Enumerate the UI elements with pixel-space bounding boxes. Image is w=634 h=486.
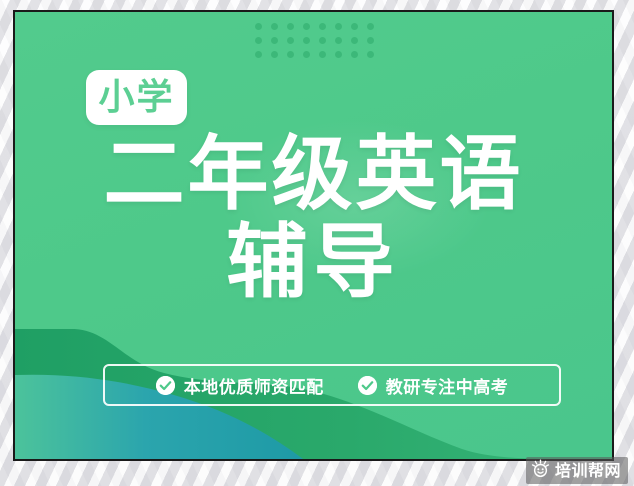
grade-level-badge: 小学 xyxy=(86,70,187,125)
grid-dot xyxy=(271,37,278,44)
grid-dot xyxy=(351,37,358,44)
check-circle-icon xyxy=(358,376,377,395)
sun-face-icon xyxy=(531,459,550,483)
site-watermark-label: 培训帮网 xyxy=(555,463,621,479)
check-circle-icon xyxy=(156,376,175,395)
grid-dot xyxy=(367,37,374,44)
grid-dot xyxy=(303,37,310,44)
grid-dot xyxy=(287,51,294,58)
grid-dot xyxy=(303,23,310,30)
grid-dot xyxy=(271,51,278,58)
grid-dot xyxy=(287,37,294,44)
grid-dot xyxy=(319,51,326,58)
feature-label-2: 教研专注中高考 xyxy=(386,373,509,398)
headline-line-1: 二年级英语 xyxy=(15,136,612,215)
grade-level-badge-label: 小学 xyxy=(98,80,174,116)
grid-dot xyxy=(335,37,342,44)
grid-dot xyxy=(351,23,358,30)
grid-dot xyxy=(255,23,262,30)
grid-dot xyxy=(271,23,278,30)
feature-bar: 本地优质师资匹配 教研专注中高考 xyxy=(103,364,561,406)
page-backdrop: 小学 二年级英语 辅导 本地优质师资匹配 xyxy=(0,0,634,486)
feature-item-2: 教研专注中高考 xyxy=(358,373,509,398)
grid-dot xyxy=(335,23,342,30)
course-poster: 小学 二年级英语 辅导 本地优质师资匹配 xyxy=(13,10,614,461)
grid-dot xyxy=(255,37,262,44)
grid-dot xyxy=(335,51,342,58)
grid-dot xyxy=(319,23,326,30)
grid-dot xyxy=(319,37,326,44)
dot-grid-decoration xyxy=(250,19,378,61)
grid-dot xyxy=(303,51,310,58)
headline-line-2: 辅导 xyxy=(15,224,612,303)
site-watermark: 培训帮网 xyxy=(526,457,628,484)
grid-dot xyxy=(351,51,358,58)
feature-item-1: 本地优质师资匹配 xyxy=(156,373,324,398)
poster-headline: 二年级英语 辅导 xyxy=(15,136,612,304)
grid-dot xyxy=(255,51,262,58)
grid-dot xyxy=(367,51,374,58)
grid-dot xyxy=(367,23,374,30)
feature-label-1: 本地优质师资匹配 xyxy=(184,373,324,398)
grid-dot xyxy=(287,23,294,30)
